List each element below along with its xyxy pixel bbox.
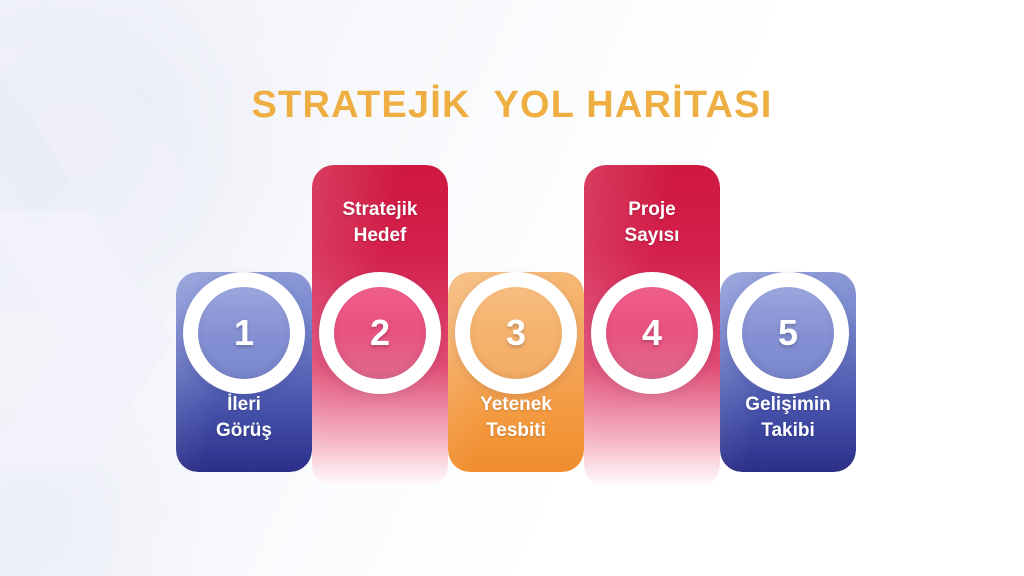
step-card-3-label: YetenekTesbiti bbox=[454, 392, 578, 444]
step-badge-1[interactable]: 1 bbox=[183, 272, 305, 394]
step-card-4-label: ProjeSayısı bbox=[590, 197, 714, 249]
step-badge-2[interactable]: 2 bbox=[319, 272, 441, 394]
step-badge-2-disc: 2 bbox=[334, 287, 426, 379]
page-title: STRATEJİK YOL HARİTASI bbox=[0, 83, 1024, 127]
step-number-3: 3 bbox=[506, 315, 526, 351]
roadmap-diagram: İleriGörüş StratejikHedef YetenekTesbiti… bbox=[176, 150, 856, 480]
step-number-4: 4 bbox=[642, 315, 662, 351]
step-card-1-label: İleriGörüş bbox=[182, 392, 306, 444]
step-badge-1-disc: 1 bbox=[198, 287, 290, 379]
step-badge-3-disc: 3 bbox=[470, 287, 562, 379]
step-number-1: 1 bbox=[234, 315, 254, 351]
step-badge-4[interactable]: 4 bbox=[591, 272, 713, 394]
step-badge-5-disc: 5 bbox=[742, 287, 834, 379]
step-card-2-label: StratejikHedef bbox=[318, 197, 442, 249]
step-badge-3[interactable]: 3 bbox=[455, 272, 577, 394]
step-badge-4-disc: 4 bbox=[606, 287, 698, 379]
slide-canvas: STRATEJİK YOL HARİTASI İleriGörüş Strate… bbox=[0, 0, 1024, 576]
step-card-5-label: GelişiminTakibi bbox=[726, 392, 850, 444]
step-badge-5[interactable]: 5 bbox=[727, 272, 849, 394]
step-number-5: 5 bbox=[778, 315, 798, 351]
step-number-2: 2 bbox=[370, 315, 390, 351]
